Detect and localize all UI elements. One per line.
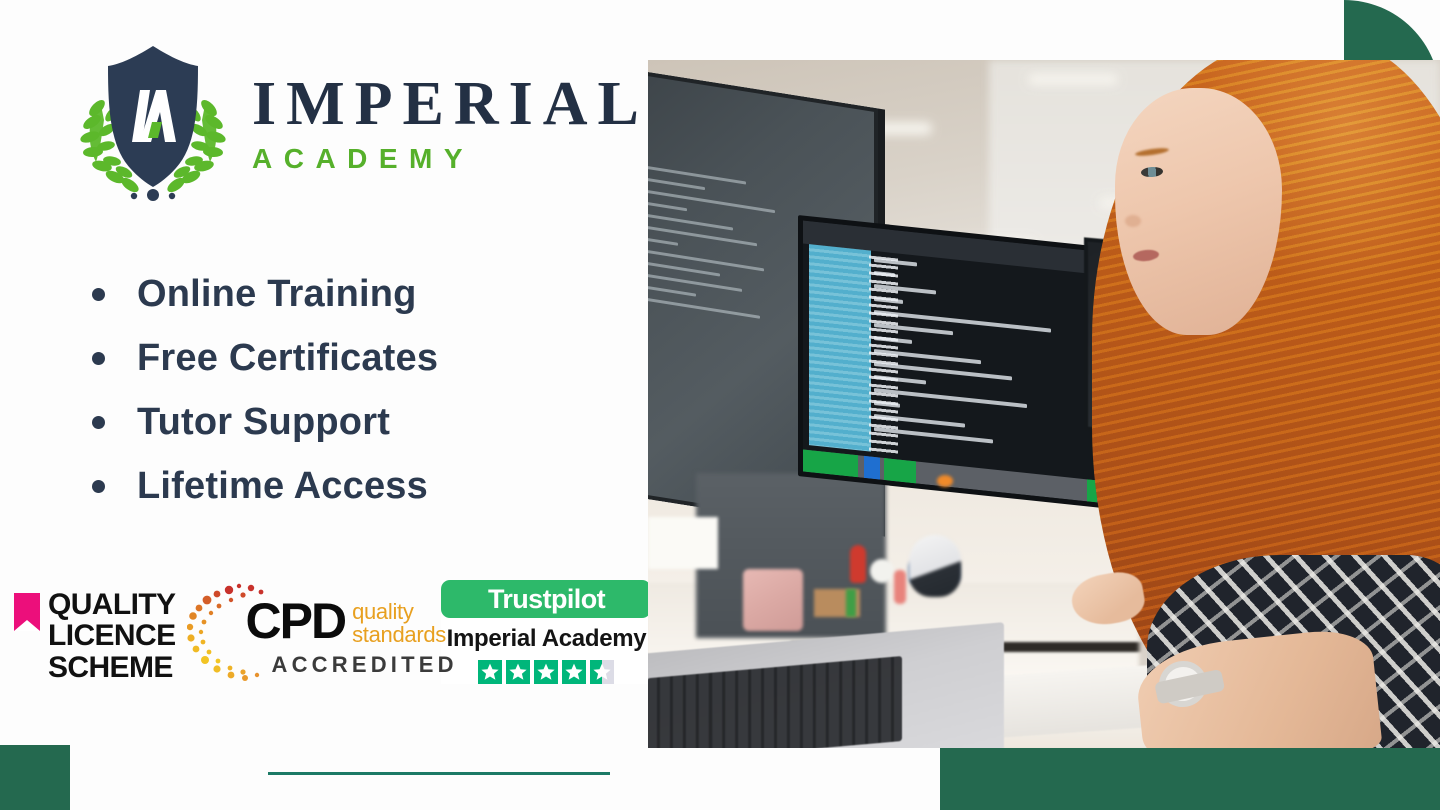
brand-wordmark: IMPERIAL ACADEMY bbox=[252, 67, 649, 175]
trustpilot-star-rating bbox=[478, 660, 614, 684]
laptop-keyboard bbox=[648, 656, 902, 748]
promo-banner: IMPERIAL ACADEMY Online Training Free Ce… bbox=[0, 0, 1440, 810]
brand-subtitle: ACADEMY bbox=[252, 144, 649, 175]
pink-mug bbox=[743, 569, 803, 631]
brand-lockup: IMPERIAL ACADEMY bbox=[72, 38, 649, 204]
quality-licence-scheme-badge: QUALITY LICENCE SCHEME bbox=[14, 583, 175, 684]
person-nose bbox=[1125, 215, 1141, 227]
benefit-label: Free Certificates bbox=[137, 337, 438, 380]
penguin-plush-toy bbox=[909, 535, 961, 597]
figurine-tall bbox=[894, 570, 906, 604]
star-icon-full bbox=[534, 660, 558, 684]
benefits-list: Online Training Free Certificates Tutor … bbox=[92, 262, 612, 518]
figurine-white bbox=[870, 559, 894, 583]
cpd-main-lockup: CPD quality standards bbox=[245, 596, 446, 646]
qls-line-1: QUALITY bbox=[48, 589, 175, 621]
benefit-label: Online Training bbox=[137, 273, 417, 316]
bullet-icon bbox=[92, 480, 105, 493]
trustpilot-account-name: Imperial Academy bbox=[447, 625, 647, 653]
bullet-icon bbox=[92, 352, 105, 365]
list-item: Online Training bbox=[92, 262, 612, 326]
hero-photo bbox=[648, 60, 1440, 748]
ceiling-light bbox=[1028, 74, 1118, 85]
monitor-terminal bbox=[798, 215, 1131, 511]
trustpilot-header: Trustpilot bbox=[441, 580, 651, 618]
brand-title: IMPERIAL bbox=[252, 73, 649, 136]
benefit-label: Lifetime Access bbox=[137, 465, 428, 508]
person-face bbox=[1115, 88, 1281, 336]
star-icon-full bbox=[562, 660, 586, 684]
benefit-label: Tutor Support bbox=[137, 401, 390, 444]
corner-decoration-bottom-right bbox=[940, 748, 1440, 810]
bookmark-ribbon-icon bbox=[14, 593, 40, 631]
star-icon-full bbox=[478, 660, 502, 684]
cpd-status-label: ACCREDITED bbox=[271, 652, 457, 678]
star-icon-full bbox=[506, 660, 530, 684]
bullet-icon bbox=[92, 288, 105, 301]
trustpilot-badge[interactable]: Trustpilot Imperial Academy bbox=[441, 580, 651, 684]
qls-line-2: LICENCE bbox=[48, 620, 175, 652]
cpd-tagline-line-1: quality bbox=[352, 600, 446, 623]
cpd-acronym: CPD bbox=[245, 596, 345, 646]
left-content-panel: IMPERIAL ACADEMY Online Training Free Ce… bbox=[0, 0, 648, 810]
figurine-red bbox=[850, 545, 866, 583]
desk-papers bbox=[648, 517, 718, 569]
cpd-tagline-line-2: standards bbox=[352, 623, 446, 646]
accreditation-badges: QUALITY LICENCE SCHEME bbox=[14, 580, 651, 684]
monitor-primary-code bbox=[648, 163, 816, 336]
cpd-accredited-badge: CPD quality standards ACCREDITED bbox=[187, 580, 427, 684]
cpd-tagline: quality standards bbox=[352, 596, 446, 646]
qls-line-3: SCHEME bbox=[48, 652, 175, 684]
terminal-code-lines bbox=[874, 258, 1113, 465]
terminal-selected-column bbox=[810, 244, 871, 452]
star-icon-half bbox=[590, 660, 614, 684]
qls-wordmark: QUALITY LICENCE SCHEME bbox=[48, 589, 175, 684]
list-item: Tutor Support bbox=[92, 390, 612, 454]
shield-laurel-logo-icon bbox=[72, 38, 234, 204]
penguin-beak bbox=[937, 475, 953, 487]
list-item: Lifetime Access bbox=[92, 454, 612, 518]
bullet-icon bbox=[92, 416, 105, 429]
list-item: Free Certificates bbox=[92, 326, 612, 390]
trustpilot-wordmark: Trustpilot bbox=[488, 584, 605, 615]
figurine-green bbox=[846, 589, 856, 617]
